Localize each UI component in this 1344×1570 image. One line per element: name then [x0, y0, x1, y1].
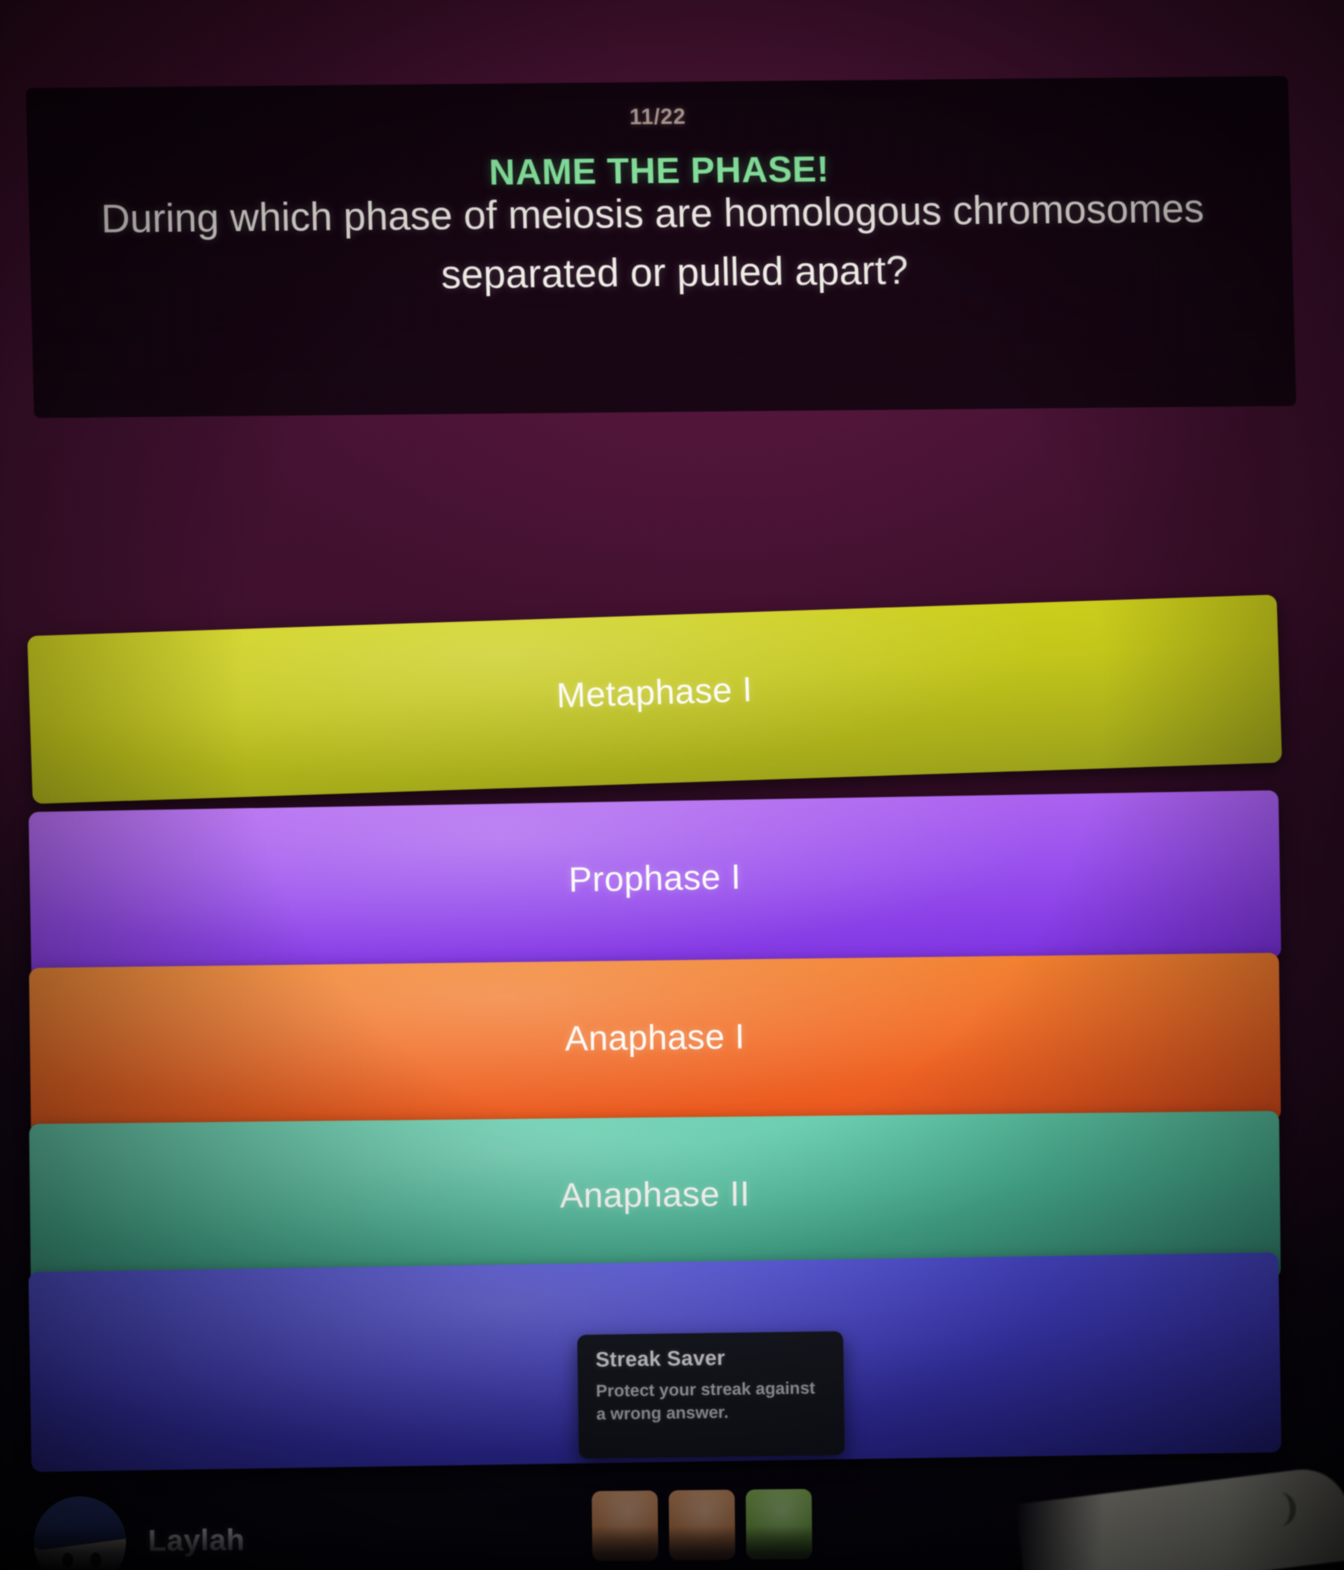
question-text: During which phase of meiosis are homolo…: [74, 180, 1273, 307]
game-screen: 11/22 NAME THE PHASE! During which phase…: [0, 0, 1344, 1570]
question-text-line-1: During which phase of meiosis are homolo…: [100, 180, 1272, 248]
answer-option-label: Prophase I: [568, 858, 741, 901]
answer-option-anaphase-i[interactable]: Anaphase I: [29, 953, 1281, 1136]
answer-option-label: Anaphase II: [560, 1174, 751, 1216]
photo-foreground-object: [1015, 1464, 1344, 1570]
answer-option-label: Anaphase I: [565, 1017, 746, 1059]
streak-saver-title: Streak Saver: [595, 1345, 827, 1372]
answer-option-label: Metaphase I: [556, 670, 753, 716]
answer-options-list: Metaphase I Prophase I Anaphase I Anapha…: [0, 636, 1344, 1276]
streak-saver-description: Protect your streak against a wrong answ…: [596, 1376, 829, 1426]
question-text-line-2: separated or pulled apart?: [76, 239, 1274, 307]
question-counter: 11/22: [26, 98, 1289, 136]
answer-option-prophase-i[interactable]: Prophase I: [29, 790, 1282, 980]
answer-option-metaphase-i[interactable]: Metaphase I: [27, 595, 1282, 804]
streak-saver-tooltip: Streak Saver Protect your streak against…: [577, 1331, 845, 1459]
question-card: 11/22 NAME THE PHASE! During which phase…: [26, 76, 1296, 418]
photo-object-notch: [1264, 1492, 1297, 1527]
